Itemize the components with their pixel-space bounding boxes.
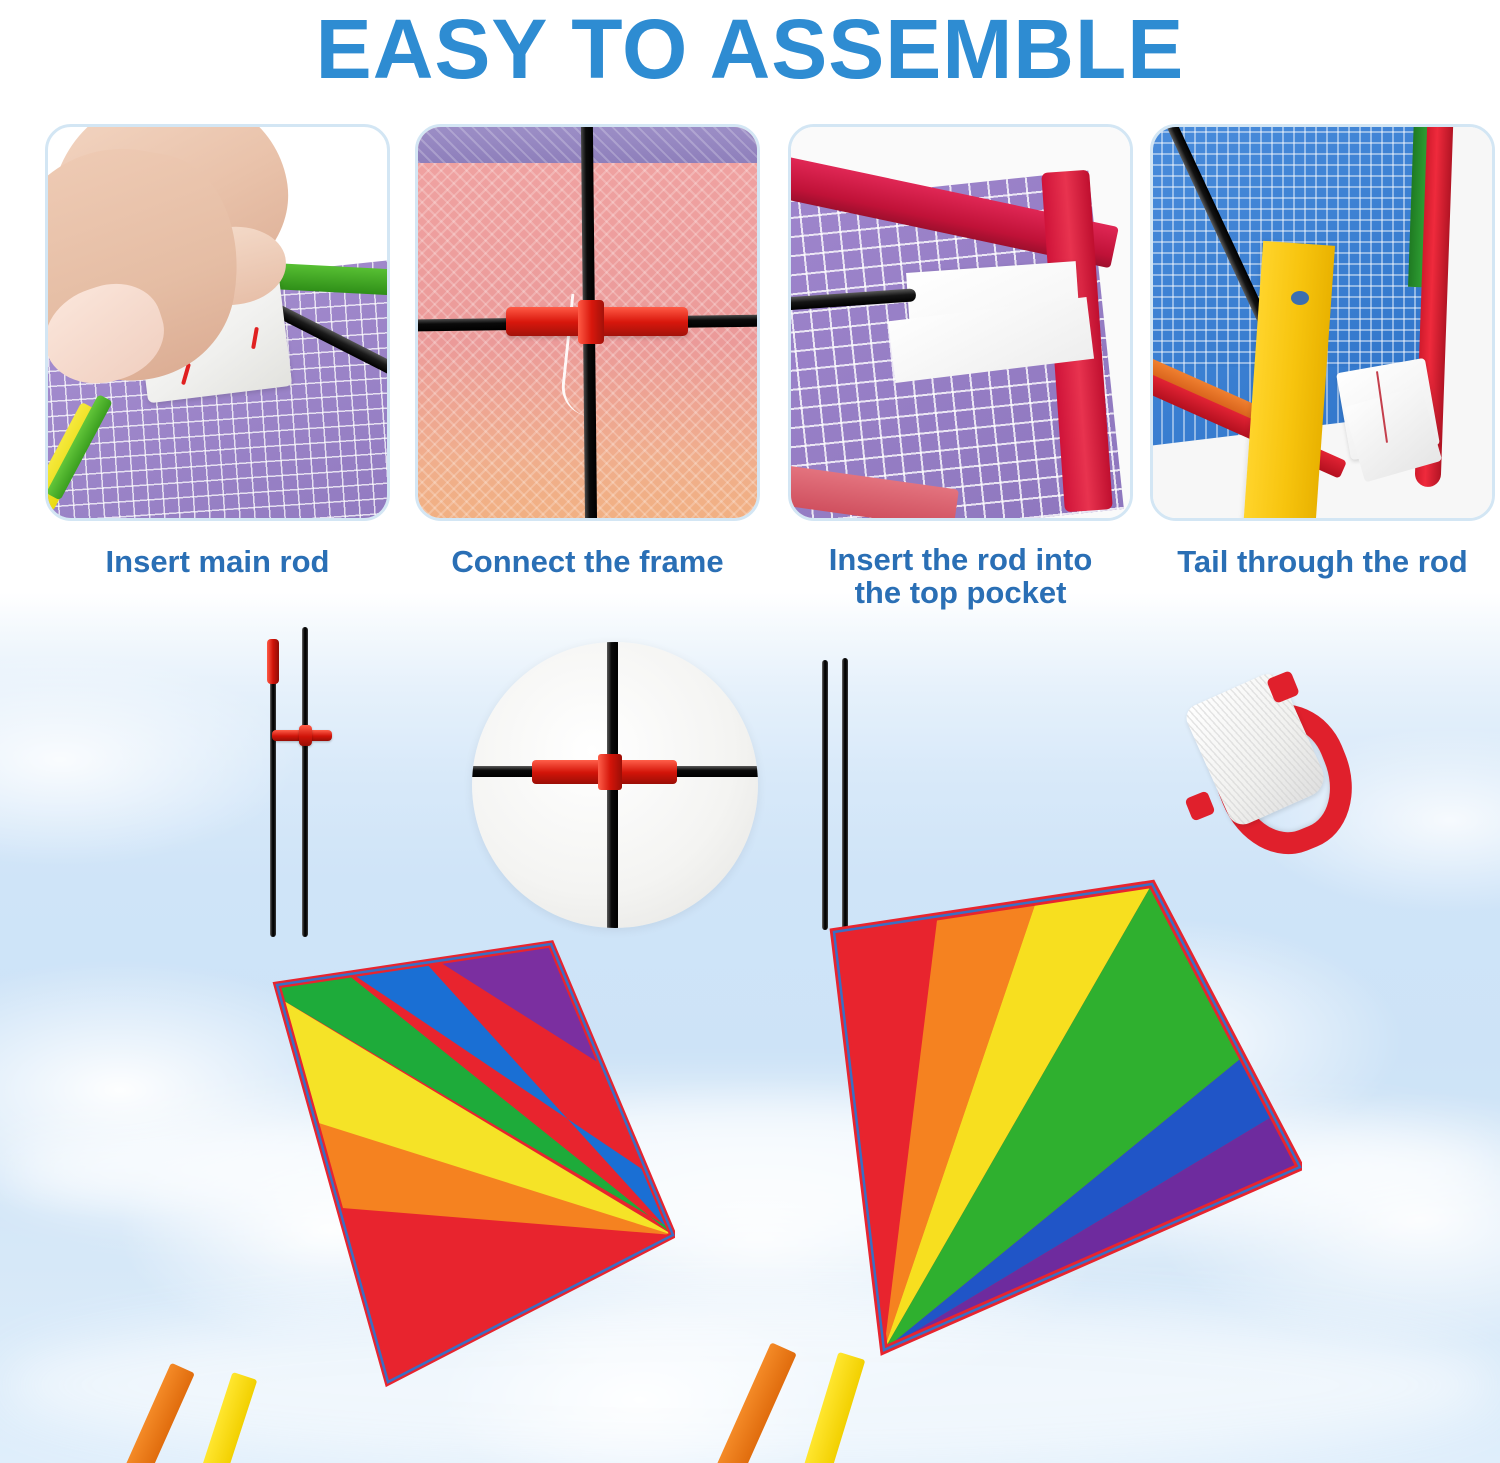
caption-step-2: Connect the frame <box>415 545 760 578</box>
steps-photo-row <box>0 124 1500 524</box>
rod-left <box>270 641 276 937</box>
caption-step-3: Insert the rod into the top pocket <box>788 543 1133 609</box>
parts-string-winder <box>1192 676 1372 866</box>
cross-connector-center <box>578 300 604 344</box>
photo-tail-through-the-rod <box>1150 124 1495 521</box>
caption-step-3-line-2: the top pocket <box>788 576 1133 609</box>
inset-cross-connector-hub <box>598 754 622 790</box>
kite-left <box>255 930 675 1410</box>
photo-insert-main-rod <box>45 124 390 521</box>
caption-step-1: Insert main rod <box>45 545 390 578</box>
infographic-canvas: EASY TO ASSEMBLE <box>0 0 1500 1463</box>
kite-right <box>822 862 1302 1402</box>
page-title: EASY TO ASSEMBLE <box>0 2 1500 96</box>
caption-step-4: Tail through the rod <box>1150 545 1495 578</box>
cross-connector-hub <box>299 725 312 746</box>
parts-main-rods <box>262 627 342 937</box>
caption-step-3-line-1: Insert the rod into <box>788 543 1133 576</box>
rod-red-cap <box>267 639 279 684</box>
photo-insert-rod-top-pocket <box>788 124 1133 521</box>
photo-connect-the-frame <box>415 124 760 521</box>
connector-detail-inset <box>472 642 758 928</box>
tail-hole <box>1291 291 1309 305</box>
rod-right <box>302 627 308 937</box>
